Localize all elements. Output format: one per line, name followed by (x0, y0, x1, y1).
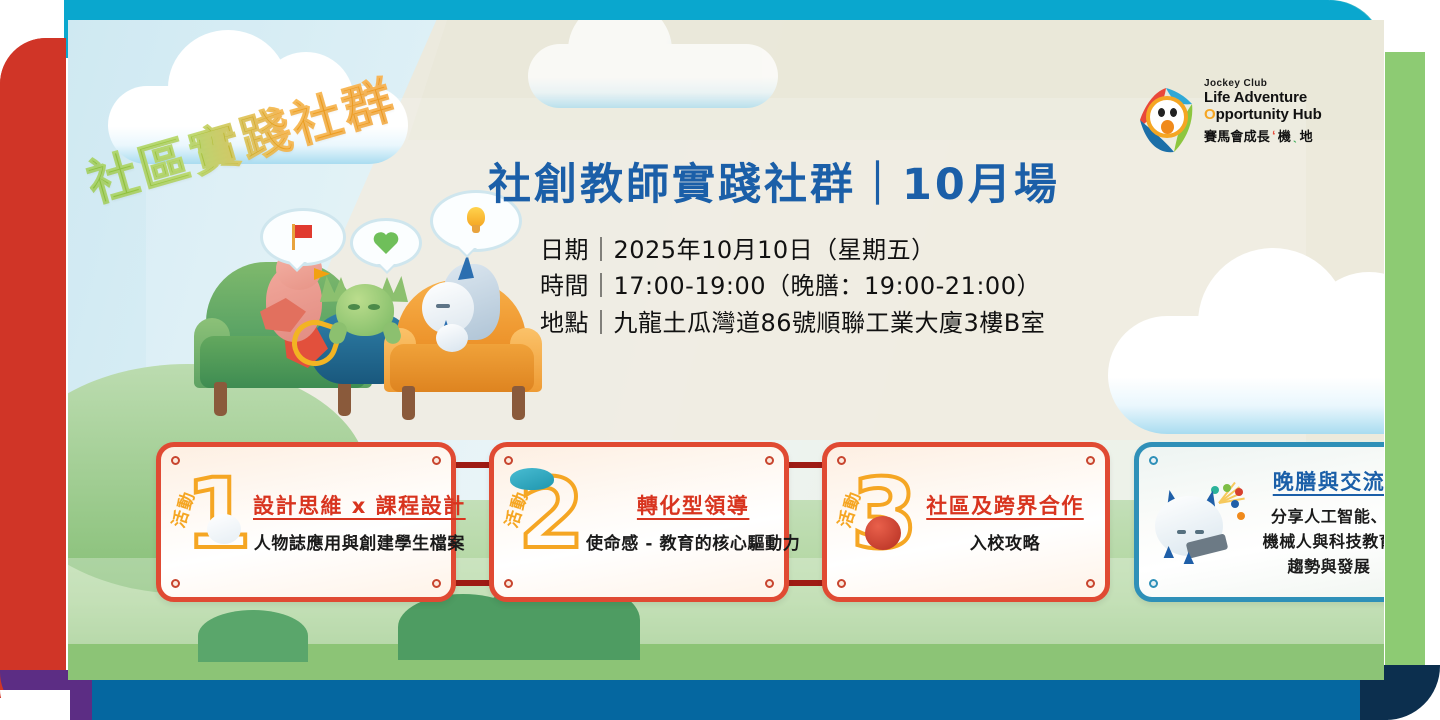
heart-icon (373, 231, 399, 255)
rivet-icon (1149, 456, 1158, 465)
activity-card-1-texts: 設計思維 x 課程設計 人物誌應用與創建學生檔案 (253, 490, 480, 554)
rivet-icon (432, 456, 441, 465)
frame-corner-top-right-white (1384, 0, 1440, 56)
jc-logo-tick-red: ʻ (1272, 128, 1276, 143)
lightbulb-icon (466, 207, 486, 235)
activity-card-3-texts: 社區及跨界合作 入校攻略 (919, 490, 1105, 554)
bush-shape (198, 610, 308, 662)
jc-logo-line3: Opportunity Hub (1204, 106, 1344, 123)
dinner-card-texts: 晚膳與交流 分享人工智能、 機械人與科技教育 趨勢與發展 (1243, 466, 1384, 579)
rivet-icon (1086, 579, 1095, 588)
activity-card-2-heading: 轉化型領導 (586, 490, 800, 520)
red-bug-chibi-icon (865, 516, 901, 550)
activity-number-badge-3: 3 活動 (833, 462, 919, 582)
flag-icon (292, 224, 314, 250)
teal-bird-chibi-icon (510, 468, 554, 490)
jc-logo-line2: Life Adventure (1204, 89, 1344, 106)
jc-logo-chinese-suffix: 地 (1300, 126, 1313, 145)
headline-block: 社創教師實踐社群｜10月場 日期｜2025年10月10日（星期五） 時間｜17:… (488, 150, 1168, 341)
rivet-icon (765, 579, 774, 588)
frame-bar-right-green (1385, 52, 1425, 682)
green-mascot-icon (322, 276, 406, 352)
white-cat-tablet-icon (1147, 474, 1243, 570)
activity-card-1[interactable]: 1 活動 設計思維 x 課程設計 人物誌應用與創建學生檔案 (156, 442, 456, 602)
event-venue-line: 地點｜九龍土瓜灣道86號順聯工業大廈3樓B室 (540, 305, 1168, 341)
jc-logo-text: Jockey Club Life Adventure Opportunity H… (1204, 78, 1344, 145)
activity-card-3-heading: 社區及跨界合作 (919, 490, 1091, 520)
rivet-icon (765, 456, 774, 465)
frame-bar-bottom-blue (58, 679, 1388, 720)
bunny-chibi-icon (207, 514, 241, 544)
frame-corner-bottom-left-notch (0, 690, 70, 720)
activity-cards-row: 1 活動 設計思維 x 課程設計 人物誌應用與創建學生檔案 2 活動 (94, 424, 1384, 604)
poster-root: 社區實踐社群 Jockey Club Life Adventure Opport… (0, 0, 1440, 720)
jc-logo-tick-green: ˎ (1293, 128, 1298, 143)
speech-bubble-heart (350, 218, 422, 268)
activity-card-3-sub: 入校攻略 (919, 529, 1091, 554)
rivet-icon (432, 579, 441, 588)
jc-logo-line1: Jockey Club (1204, 78, 1344, 89)
activity-card-3[interactable]: 3 活動 社區及跨界合作 入校攻略 (822, 442, 1110, 602)
activity-number-badge-2: 2 活動 (500, 462, 586, 582)
dinner-card-heading: 晚膳與交流 (1243, 466, 1384, 496)
jc-logo-line3-rest: pportunity Hub (1216, 106, 1322, 123)
jc-logo-chinese-prefix: 賽馬會成長 (1204, 126, 1270, 145)
dinner-card-sub-line-2: 機械人與科技教育 (1243, 530, 1384, 553)
frame-corner-top-left-red (0, 38, 66, 84)
activity-card-2-texts: 轉化型領導 使命感 - 教育的核心驅動力 (586, 490, 814, 554)
activity-card-1-sub: 人物誌應用與創建學生檔案 (253, 529, 466, 554)
event-time-line: 時間｜17:00-19:00（晚膳：19:00-21:00） (540, 268, 1168, 304)
frame-bar-left-red (0, 38, 66, 698)
rivet-icon (1086, 456, 1095, 465)
activity-card-2-sub: 使命感 - 教育的核心驅動力 (586, 529, 800, 554)
dinner-card-sub-line-3: 趨勢與發展 (1243, 555, 1384, 578)
dinner-card[interactable]: 晚膳與交流 分享人工智能、 機械人與科技教育 趨勢與發展 (1134, 442, 1384, 602)
activity-number-badge-1: 1 活動 (167, 462, 253, 582)
artwork-title: 社區實踐社群 (78, 32, 502, 217)
dinner-card-sub-line-1: 分享人工智能、 (1243, 505, 1384, 528)
rivet-icon (1149, 579, 1158, 588)
poster-canvas: 社區實踐社群 Jockey Club Life Adventure Opport… (68, 20, 1384, 680)
speech-bubble-flag (260, 208, 346, 266)
cloud-shape-middle (528, 20, 778, 110)
jc-logo-chinese: 賽馬會成長 ʻ 機 ˎ 地 (1204, 126, 1344, 145)
jc-owl-mark-icon (1134, 84, 1198, 158)
event-details: 日期｜2025年10月10日（星期五） 時間｜17:00-19:00（晚膳：19… (540, 232, 1168, 341)
event-date-line: 日期｜2025年10月10日（星期五） (540, 232, 1168, 268)
activity-card-2[interactable]: 2 活動 轉化型領導 使命感 - 教育的核心驅動力 (489, 442, 789, 602)
activity-card-1-heading: 設計思維 x 課程設計 (253, 490, 466, 520)
jc-logo-o-accent: O (1204, 106, 1216, 123)
jc-logo-chinese-mid: 機 (1278, 126, 1291, 145)
community-artwork: 社區實踐社群 (78, 40, 528, 380)
page-title: 社創教師實踐社群｜10月場 (488, 150, 1168, 212)
